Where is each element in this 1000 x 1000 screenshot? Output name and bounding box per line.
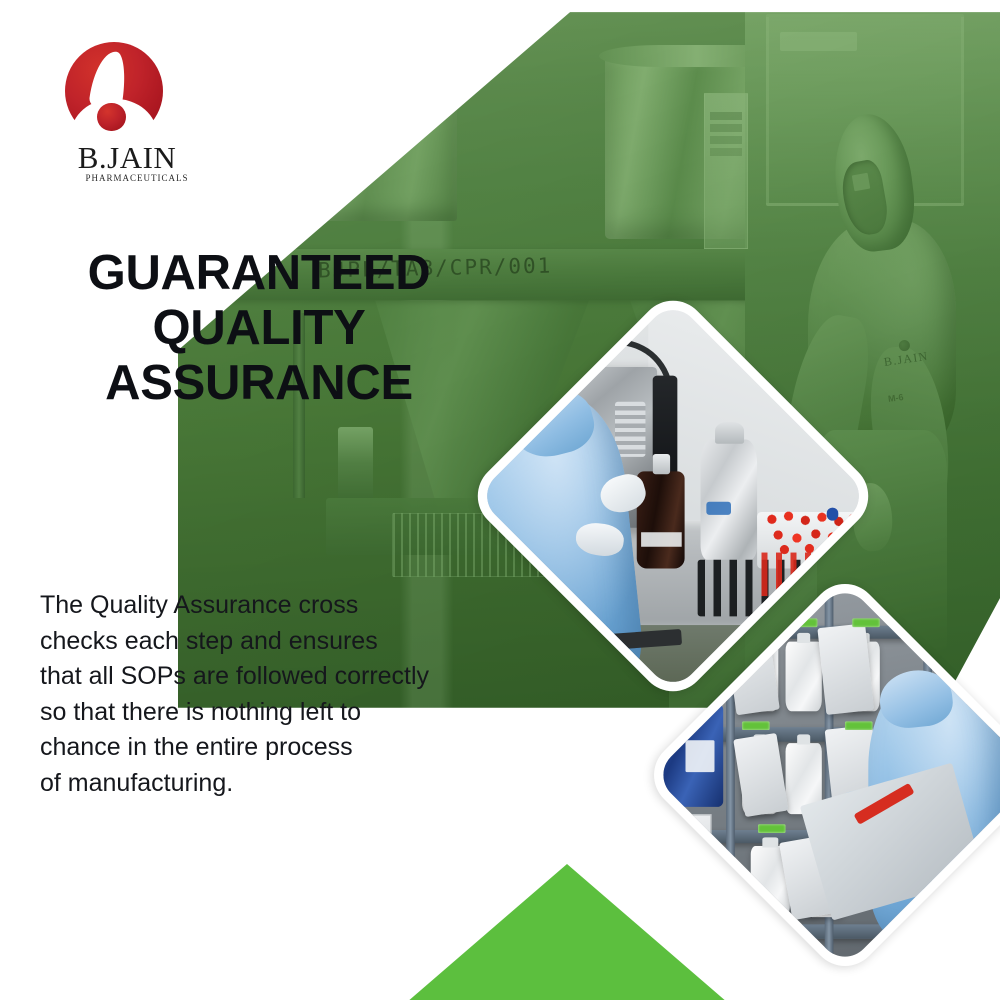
logo-red-dot xyxy=(97,103,125,131)
warehouse-white-box-1 xyxy=(653,814,711,861)
shelf-tag-3 xyxy=(853,619,881,628)
shelf-tag-9 xyxy=(766,919,794,928)
brand-name: B.JAIN xyxy=(47,142,207,173)
body-line-6: of manufacturing. xyxy=(40,766,520,802)
body-paragraph: The Quality Assurance cross checks each … xyxy=(40,588,520,801)
warehouse-jug-2 xyxy=(786,641,821,712)
shelf-tag-7 xyxy=(758,824,786,833)
lab-blue-cap xyxy=(826,508,838,520)
shelf-label-card-2 xyxy=(817,623,873,714)
bjain-flame-logo-icon xyxy=(65,42,163,140)
page-title: GUARANTEED QUALITY ASSURANCE xyxy=(24,246,494,411)
warehouse-blue-drum xyxy=(656,704,723,807)
shelf-label-card-4 xyxy=(733,733,788,818)
body-line-2: checks each step and ensures xyxy=(40,624,520,660)
promotional-poster: admach BJPL/TAB/CPR/001 xyxy=(0,0,1000,1000)
green-triangle-decoration xyxy=(408,864,726,1000)
shelf-tag-5 xyxy=(845,721,873,730)
shelf-tag-4 xyxy=(742,721,770,730)
shelf-tag-2 xyxy=(790,619,818,628)
body-line-3: that all SOPs are followed correctly xyxy=(40,659,520,695)
machine-handwheel-icon xyxy=(371,31,416,55)
inspector-hood xyxy=(877,666,955,731)
headline-line-1: GUARANTEED xyxy=(24,246,494,301)
brand-tagline: PHARMACEUTICALS xyxy=(57,173,217,183)
headline-line-2: QUALITY ASSURANCE xyxy=(24,301,494,411)
body-line-5: chance in the entire process xyxy=(40,730,520,766)
body-line-1: The Quality Assurance cross xyxy=(40,588,520,624)
body-line-4: so that there is nothing left to xyxy=(40,695,520,731)
brand-logo: B.JAIN PHARMACEUTICALS xyxy=(47,42,207,192)
lab-foil-jug xyxy=(701,440,757,561)
lab-amber-bottle xyxy=(637,472,685,569)
warehouse-kraft-box-1 xyxy=(664,870,735,925)
